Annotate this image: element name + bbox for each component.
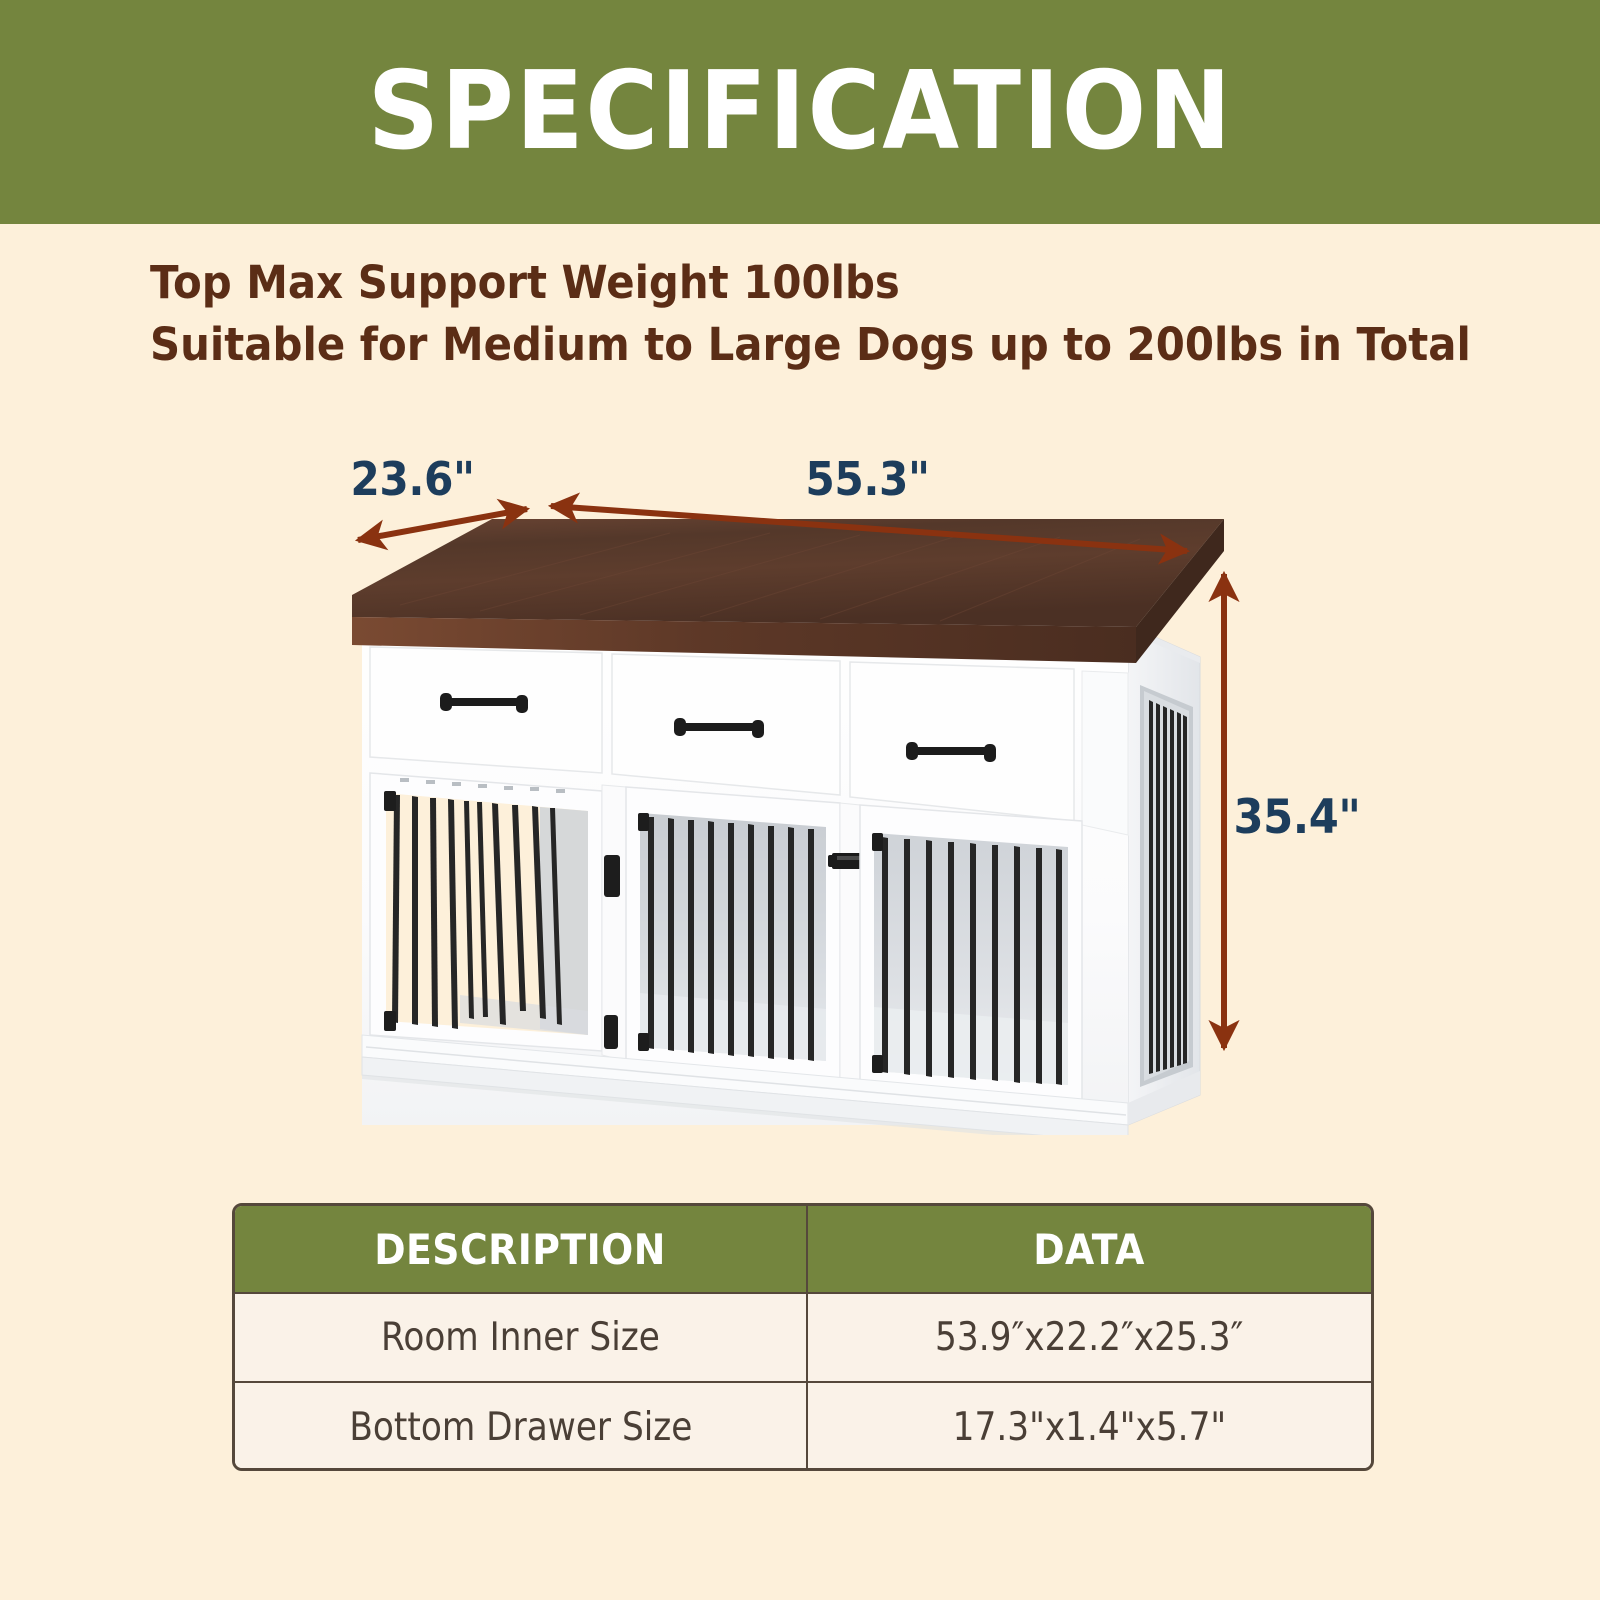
wood-tabletop bbox=[352, 517, 1224, 663]
drawer-right[interactable] bbox=[850, 662, 1074, 821]
header-band: SPECIFICATION bbox=[0, 0, 1600, 224]
cell-data: 53.9″x22.2″x25.3″ bbox=[807, 1293, 1371, 1382]
cage-right-door[interactable] bbox=[860, 805, 1082, 1103]
cell-data: 17.3"x1.4"x5.7" bbox=[807, 1382, 1371, 1471]
cage-middle-door[interactable] bbox=[626, 787, 840, 1079]
column-header-data: DATA bbox=[807, 1206, 1371, 1293]
table-row: Room Inner Size 53.9″x22.2″x25.3″ bbox=[235, 1293, 1371, 1382]
intro-line-1: Top Max Support Weight 100lbs bbox=[150, 252, 1471, 314]
cage-left-door[interactable] bbox=[370, 773, 602, 1051]
cell-description: Room Inner Size bbox=[235, 1293, 807, 1382]
table-header-row: DESCRIPTION DATA bbox=[235, 1206, 1371, 1293]
page-title: SPECIFICATION bbox=[367, 58, 1232, 166]
specification-table: DESCRIPTION DATA Room Inner Size 53.9″x2… bbox=[232, 1203, 1374, 1471]
hinge-left-middle bbox=[604, 855, 620, 897]
table-row: Bottom Drawer Size 17.3"x1.4"x5.7" bbox=[235, 1382, 1371, 1471]
drawer-left[interactable] bbox=[370, 647, 602, 773]
column-header-description: DESCRIPTION bbox=[235, 1206, 807, 1293]
hinge-left-middle-lower bbox=[604, 1015, 618, 1049]
intro-text-block: Top Max Support Weight 100lbs Suitable f… bbox=[150, 252, 1471, 376]
cell-description: Bottom Drawer Size bbox=[235, 1382, 807, 1471]
cabinet-right-side bbox=[1128, 625, 1200, 1125]
intro-line-2: Suitable for Medium to Large Dogs up to … bbox=[150, 314, 1471, 376]
product-image bbox=[340, 495, 1240, 1135]
drawer-center[interactable] bbox=[612, 654, 840, 795]
dimension-label-height: 35.4" bbox=[1234, 790, 1361, 845]
